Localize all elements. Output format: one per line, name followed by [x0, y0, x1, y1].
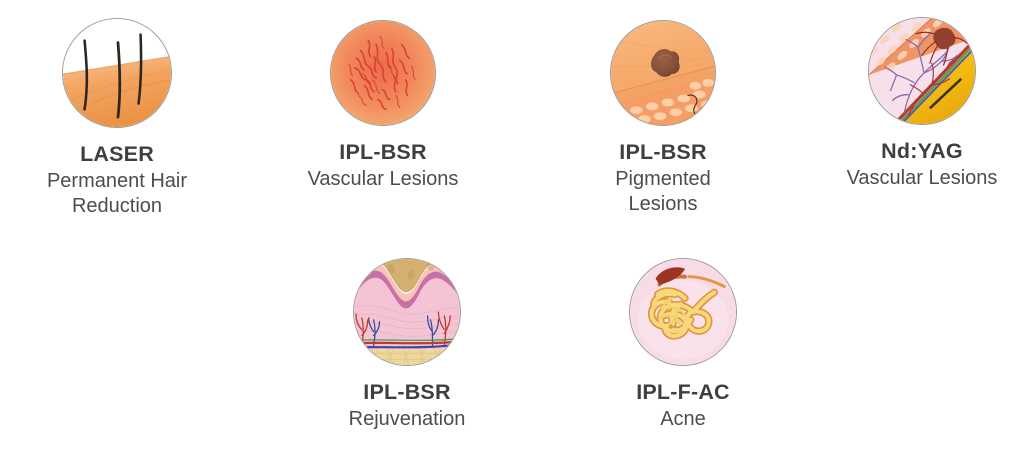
treatment-subtitle: Pigmented Lesions	[583, 167, 743, 216]
treatment-title: IPL-BSR	[583, 140, 743, 165]
labels-ipl-bsr-pigmented: IPL-BSR Pigmented Lesions	[583, 140, 743, 216]
treatment-title: LASER	[36, 142, 198, 167]
wrinkled-skin-cross-section-icon	[353, 258, 461, 366]
treatment-card-ipl-bsr-rejuvenation: IPL-BSR Rejuvenation	[327, 258, 487, 432]
pigmented-lesion-mole-icon	[610, 20, 716, 126]
treatment-title: IPL-BSR	[327, 380, 487, 405]
treatment-subtitle: Permanent Hair Reduction	[36, 169, 198, 218]
labels-ipl-bsr-rejuvenation: IPL-BSR Rejuvenation	[327, 380, 487, 432]
labels-ipl-bsr-vascular: IPL-BSR Vascular Lesions	[303, 140, 463, 192]
sebaceous-gland-acne-icon	[629, 258, 737, 366]
labels-ipl-f-ac-acne: IPL-F-AC Acne	[603, 380, 763, 432]
treatment-indications-board: LASER Permanent Hair Reduction	[0, 0, 1024, 463]
vascular-lesion-skin-icon	[330, 20, 436, 126]
icon-wrap-vascular	[330, 20, 436, 126]
treatment-subtitle: Acne	[603, 407, 763, 431]
treatment-card-ipl-bsr-pigmented: IPL-BSR Pigmented Lesions	[583, 20, 743, 216]
treatment-title: Nd:YAG	[842, 139, 1002, 164]
treatment-card-laser-hair-reduction: LASER Permanent Hair Reduction	[36, 18, 198, 218]
treatment-card-ipl-f-ac-acne: IPL-F-AC Acne	[603, 258, 763, 432]
icon-wrap-ndyag	[868, 17, 976, 125]
treatment-subtitle: Vascular Lesions	[842, 166, 1002, 190]
treatment-subtitle: Vascular Lesions	[303, 167, 463, 191]
icon-wrap-acne	[629, 258, 737, 366]
icon-wrap-pigmented	[610, 20, 716, 126]
treatment-subtitle: Rejuvenation	[327, 407, 487, 431]
labels-laser: LASER Permanent Hair Reduction	[36, 142, 198, 218]
skin-cross-section-vessels-icon	[868, 17, 976, 125]
skin-with-hairs-icon	[62, 18, 172, 128]
treatment-card-ndyag-vascular: Nd:YAG Vascular Lesions	[842, 17, 1002, 191]
treatment-title: IPL-F-AC	[603, 380, 763, 405]
labels-ndyag: Nd:YAG Vascular Lesions	[842, 139, 1002, 191]
icon-wrap-rejuvenation	[353, 258, 461, 366]
treatment-title: IPL-BSR	[303, 140, 463, 165]
icon-wrap-laser	[62, 18, 172, 128]
treatment-card-ipl-bsr-vascular: IPL-BSR Vascular Lesions	[303, 20, 463, 192]
